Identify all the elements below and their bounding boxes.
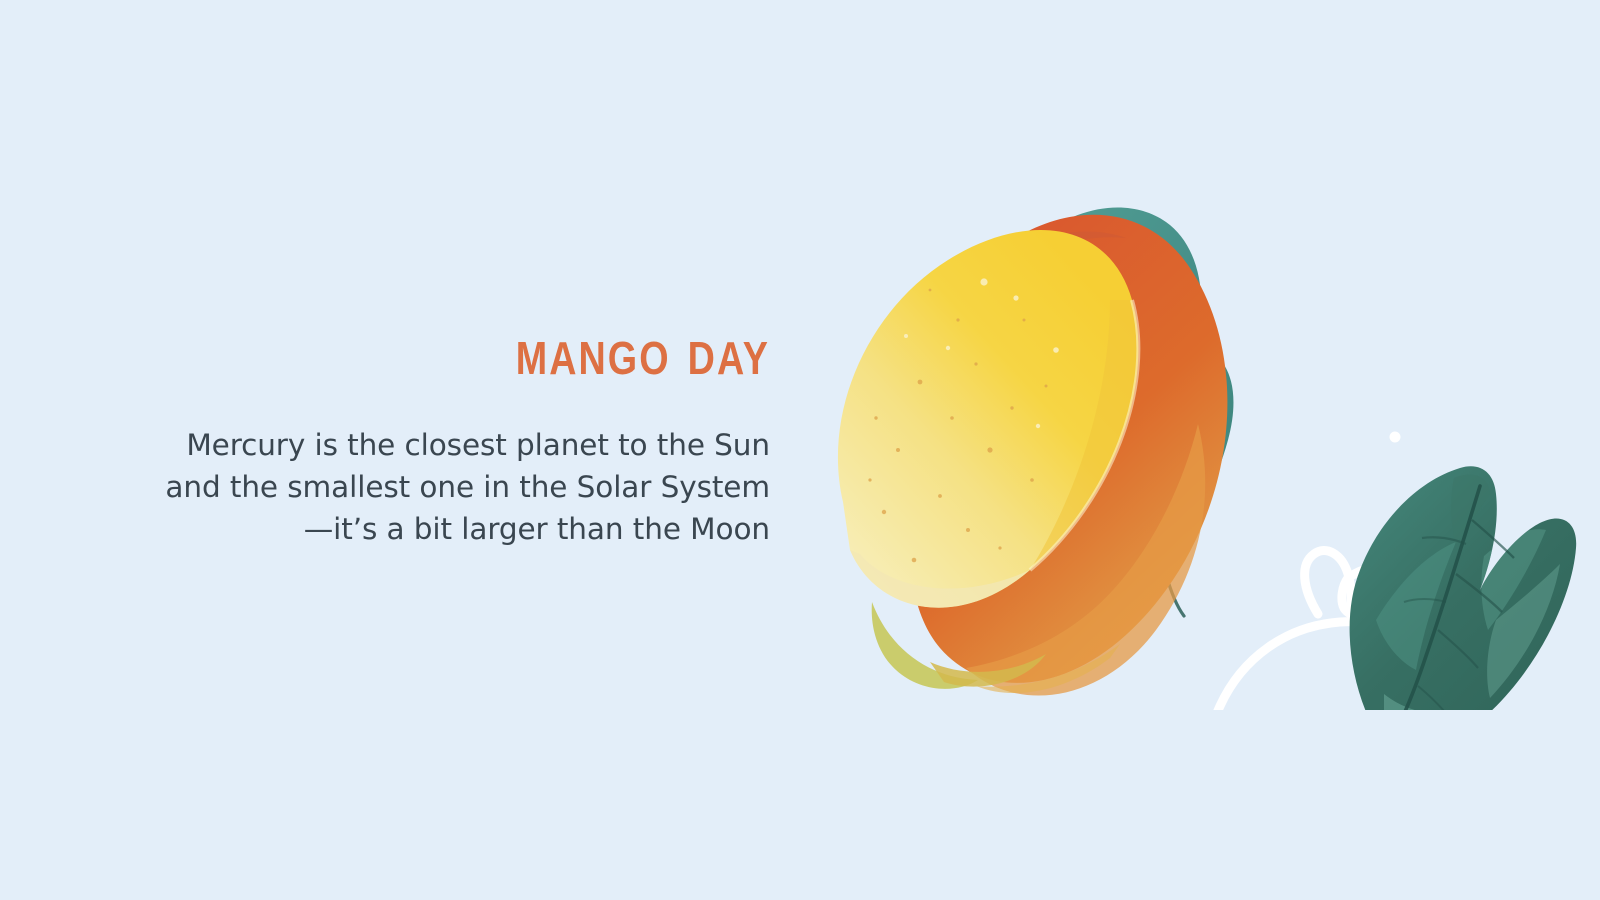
body-paragraph: Mercury is the closest planet to the Sun… bbox=[150, 384, 770, 550]
page-title: Mango Day bbox=[221, 318, 770, 384]
outline-mango-leaf bbox=[1350, 466, 1577, 710]
mango-day-banner: Mango Day Mercury is the closest planet … bbox=[0, 0, 1600, 900]
text-block: Mango Day Mercury is the closest planet … bbox=[100, 318, 770, 550]
outline-dot-upper bbox=[1390, 432, 1401, 443]
mango-illustration bbox=[780, 150, 1600, 710]
